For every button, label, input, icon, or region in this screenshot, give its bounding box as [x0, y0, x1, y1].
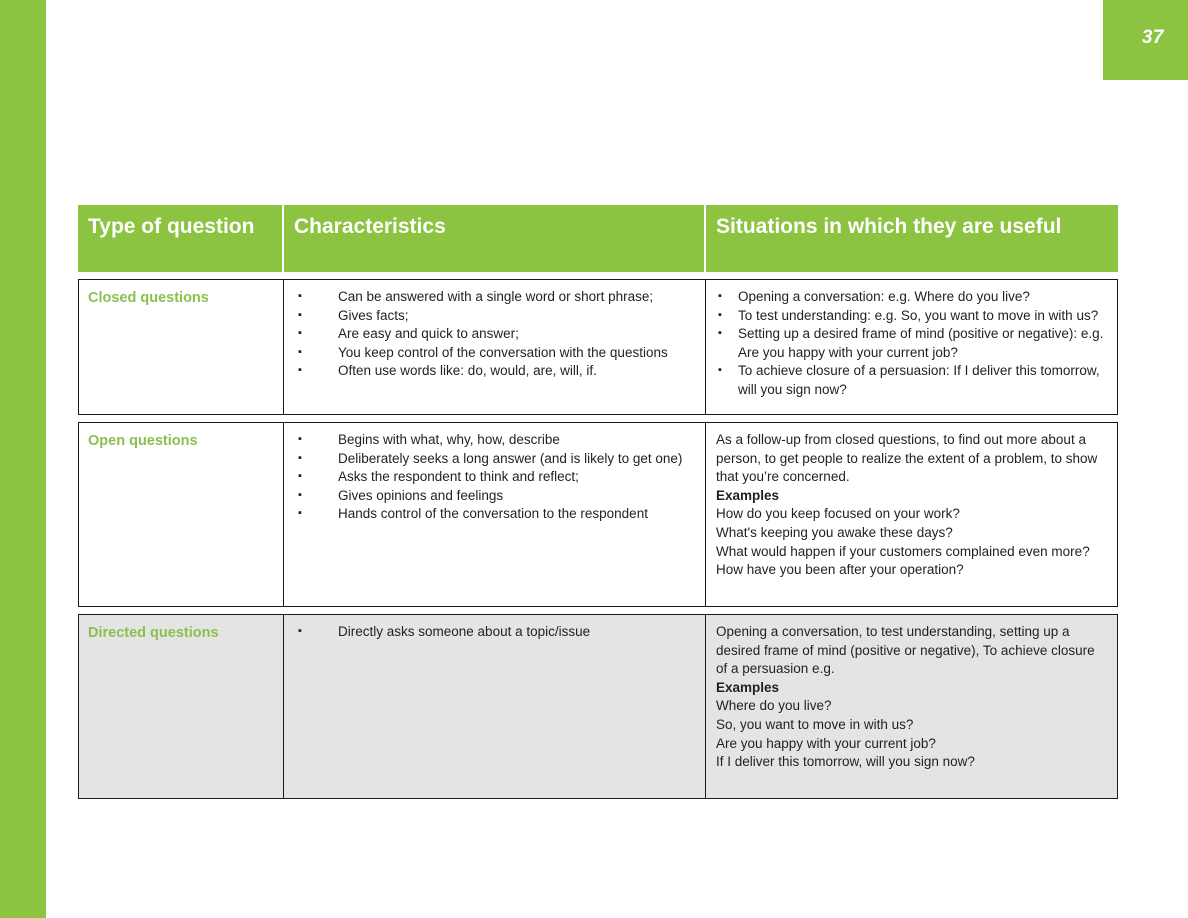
row-situations-closed: Opening a conversation: e.g. Where do yo… — [706, 280, 1117, 414]
example-line: Where do you live? — [716, 697, 1109, 716]
page-number-badge: 37 — [1103, 0, 1188, 80]
list-item: Directly asks someone about a topic/issu… — [290, 623, 697, 642]
characteristics-list: Directly asks someone about a topic/issu… — [290, 623, 697, 642]
row-label-open-questions: Open questions — [79, 423, 284, 606]
slide-left-accent-bar — [0, 0, 46, 918]
situations-list: Opening a conversation: e.g. Where do yo… — [716, 288, 1109, 400]
page-number: 37 — [1142, 27, 1164, 49]
example-line: How do you keep focused on your work? — [716, 505, 1109, 524]
list-item: Gives opinions and feelings — [290, 487, 697, 506]
question-types-table: Type of question Characteristics Situati… — [78, 205, 1118, 799]
example-line: What's keeping you awake these days? — [716, 524, 1109, 543]
list-item: Asks the respondent to think and reflect… — [290, 468, 697, 487]
example-line: Are you happy with your current job? — [716, 735, 1109, 754]
characteristics-list: Can be answered with a single word or sh… — [290, 288, 697, 381]
row-characteristics-open: Begins with what, why, how, describe Del… — [284, 423, 706, 606]
table-row: Open questions Begins with what, why, ho… — [78, 422, 1118, 607]
column-header-type-of-question: Type of question — [78, 205, 282, 272]
list-item: Begins with what, why, how, describe — [290, 431, 697, 450]
situations-intro: As a follow-up from closed questions, to… — [716, 431, 1109, 487]
list-item: Can be answered with a single word or sh… — [290, 288, 697, 307]
example-line: How have you been after your operation? — [716, 561, 1109, 580]
list-item: Setting up a desired frame of mind (posi… — [716, 325, 1109, 362]
row-characteristics-closed: Can be answered with a single word or sh… — [284, 280, 706, 414]
examples-label: Examples — [716, 487, 1109, 506]
row-situations-directed: Opening a conversation, to test understa… — [706, 615, 1117, 798]
list-item: Gives facts; — [290, 307, 697, 326]
list-item: Deliberately seeks a long answer (and is… — [290, 450, 697, 469]
example-line: So, you want to move in with us? — [716, 716, 1109, 735]
row-label-closed-questions: Closed questions — [79, 280, 284, 414]
example-line: What would happen if your customers comp… — [716, 543, 1109, 562]
list-item: Hands control of the conversation to the… — [290, 505, 697, 524]
list-item: Often use words like: do, would, are, wi… — [290, 362, 697, 381]
list-item: You keep control of the conversation wit… — [290, 344, 697, 363]
list-item: Are easy and quick to answer; — [290, 325, 697, 344]
characteristics-list: Begins with what, why, how, describe Del… — [290, 431, 697, 524]
situations-intro: Opening a conversation, to test understa… — [716, 623, 1109, 679]
examples-label: Examples — [716, 679, 1109, 698]
example-line: If I deliver this tomorrow, will you sig… — [716, 753, 1109, 772]
table-row: Closed questions Can be answered with a … — [78, 279, 1118, 415]
list-item: To achieve closure of a persuasion: If I… — [716, 362, 1109, 399]
column-header-characteristics: Characteristics — [284, 205, 704, 272]
list-item: Opening a conversation: e.g. Where do yo… — [716, 288, 1109, 307]
row-situations-open: As a follow-up from closed questions, to… — [706, 423, 1117, 606]
row-label-directed-questions: Directed questions — [79, 615, 284, 798]
column-header-situations: Situations in which they are useful — [706, 205, 1118, 272]
list-item: To test understanding: e.g. So, you want… — [716, 307, 1109, 326]
table-row: Directed questions Directly asks someone… — [78, 614, 1118, 799]
table-header-row: Type of question Characteristics Situati… — [78, 205, 1118, 272]
row-characteristics-directed: Directly asks someone about a topic/issu… — [284, 615, 706, 798]
